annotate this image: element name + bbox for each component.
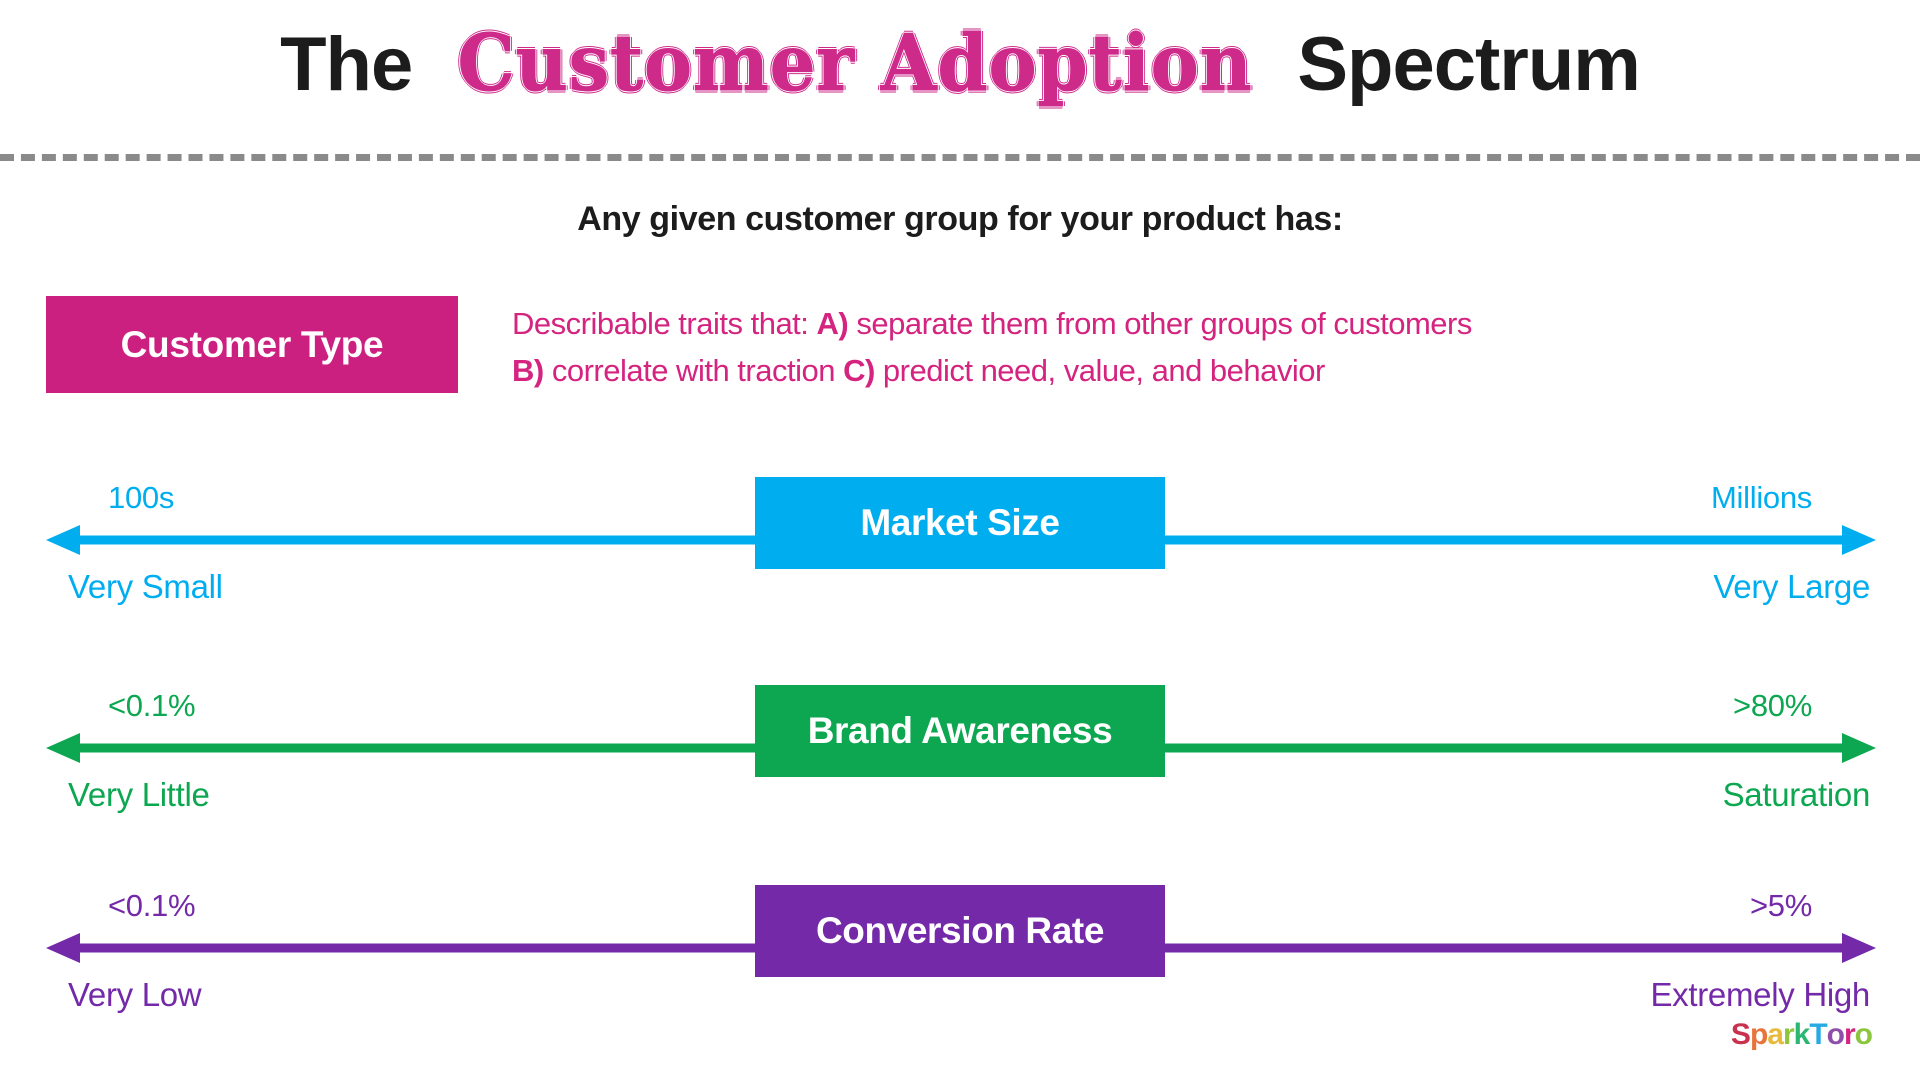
arrow-head-right [1842, 733, 1876, 763]
title-part-fancy: Customer Adoption [452, 18, 1258, 109]
logo-letter: p [1750, 1018, 1767, 1052]
spectrum-right-top-caption: Millions [1711, 480, 1812, 516]
spectrum-right-bottom-caption: Saturation [1723, 776, 1870, 814]
spectrum-right-top-caption: >80% [1733, 688, 1812, 724]
desc-2-mid: correlate with traction [544, 353, 843, 388]
desc-2-tail: predict need, value, and behavior [875, 353, 1325, 388]
desc-label-b: B) [512, 353, 544, 388]
spectrum-name: Conversion Rate [816, 910, 1104, 952]
logo-letter: r [1783, 1018, 1794, 1052]
logo-letter: a [1767, 1018, 1783, 1052]
arrow-head-left [46, 733, 80, 763]
spectrum-center-box-brand-awareness: Brand Awareness [755, 685, 1165, 777]
desc-label-c: C) [843, 353, 875, 388]
sparktoro-logo[interactable]: SparkToro [1731, 1018, 1872, 1052]
spectrum-right-bottom-caption: Very Large [1713, 568, 1870, 606]
logo-letter: S [1731, 1018, 1750, 1052]
arrow-head-left [46, 933, 80, 963]
arrow-head-right [1842, 933, 1876, 963]
spectrum-center-box-market-size: Market Size [755, 477, 1165, 569]
customer-type-description: Describable traits that: A) separate the… [512, 300, 1702, 394]
page-title: The Customer Adoption Spectrum [0, 18, 1920, 109]
desc-1-tail: separate them from other groups of custo… [848, 306, 1472, 341]
spectrum-left-bottom-caption: Very Small [68, 568, 223, 606]
subheading: Any given customer group for your produc… [0, 200, 1920, 239]
spectrum-right-bottom-caption: Extremely High [1650, 976, 1870, 1014]
customer-type-desc-line-2: B) correlate with traction C) predict ne… [512, 347, 1702, 394]
spectrum-left-top-caption: <0.1% [108, 888, 195, 924]
logo-letter: o [1855, 1018, 1872, 1052]
spectrum-left-top-caption: 100s [108, 480, 174, 516]
spectrum-left-top-caption: <0.1% [108, 688, 195, 724]
logo-letter: r [1844, 1018, 1855, 1052]
spectrum-left-bottom-caption: Very Little [68, 776, 210, 814]
customer-type-badge: Customer Type [46, 296, 458, 393]
customer-type-label: Customer Type [121, 324, 384, 366]
spectrum-right-top-caption: >5% [1750, 888, 1812, 924]
title-divider [0, 154, 1920, 161]
customer-type-desc-line-1: Describable traits that: A) separate the… [512, 300, 1702, 347]
spectrum-center-box-conversion-rate: Conversion Rate [755, 885, 1165, 977]
spectrum-name: Brand Awareness [808, 710, 1113, 752]
logo-letter: T [1809, 1018, 1826, 1052]
logo-letter: o [1827, 1018, 1844, 1052]
slide-root: The Customer Adoption Spectrum Any given… [0, 0, 1920, 1080]
spectrum-name: Market Size [860, 502, 1059, 544]
logo-letter: k [1794, 1018, 1810, 1052]
spectrum-left-bottom-caption: Very Low [68, 976, 201, 1014]
arrow-head-left [46, 525, 80, 555]
title-part-spectrum: Spectrum [1297, 22, 1640, 107]
desc-1-lead: Describable traits that: [512, 306, 817, 341]
desc-label-a: A) [817, 306, 849, 341]
spectrum-row-conversion-rate: Conversion Rate <0.1% Very Low >5% Extre… [0, 848, 1920, 1048]
title-part-the: The [280, 22, 412, 107]
spectrum-row-brand-awareness: Brand Awareness <0.1% Very Little >80% S… [0, 648, 1920, 848]
arrow-head-right [1842, 525, 1876, 555]
spectrum-row-market-size: Market Size 100s Very Small Millions Ver… [0, 440, 1920, 640]
